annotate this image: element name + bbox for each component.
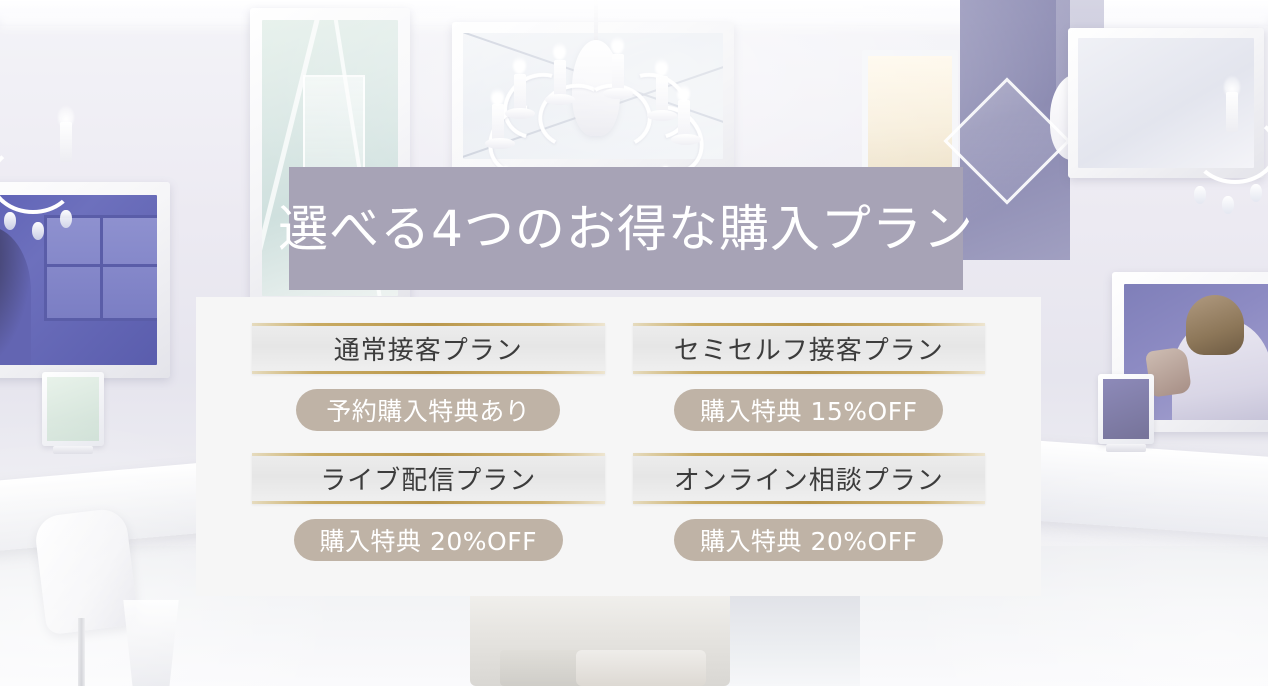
- plan-title-bar: オンライン相談プラン: [633, 453, 986, 504]
- salon-chair-icon: [33, 507, 139, 635]
- page-title: 選べる4つのお得な購入プラン: [278, 204, 974, 254]
- desk-mirror-stand: [53, 446, 93, 454]
- mirror-reflection-hair: [1186, 295, 1244, 355]
- plan-benefit-badge: 購入特典 20%OFF: [294, 519, 563, 561]
- plan-benefit-badge: 購入特典 20%OFF: [674, 519, 943, 561]
- counter-icon: [1018, 440, 1268, 541]
- wall-sconce-icon: [1180, 14, 1268, 194]
- desk-mirror-stand: [1106, 444, 1146, 452]
- plan-title: セミセルフ接客プラン: [674, 330, 944, 367]
- mirror-reflection-window: [44, 215, 157, 320]
- plan-card-1[interactable]: 通常接客プラン 予約購入特典あり: [252, 323, 605, 443]
- plan-card-3[interactable]: ライブ配信プラン 購入特典 20%OFF: [252, 453, 605, 573]
- wall-sconce-icon: [0, 26, 126, 206]
- plan-title: オンライン相談プラン: [674, 460, 944, 497]
- plan-title: ライブ配信プラン: [320, 460, 536, 497]
- desk-mirror-icon: [42, 372, 104, 446]
- mirror-reflection-person: [0, 226, 31, 365]
- plan-title: 通常接客プラン: [334, 330, 523, 367]
- plan-card-4[interactable]: オンライン相談プラン 購入特典 20%OFF: [633, 453, 986, 573]
- headline-banner: 選べる4つのお得な購入プラン: [289, 167, 963, 290]
- plan-title-bar: 通常接客プラン: [252, 323, 605, 374]
- plan-title-bar: ライブ配信プラン: [252, 453, 605, 504]
- salon-chair-pole: [78, 618, 85, 686]
- plan-card-2[interactable]: セミセルフ接客プラン 購入特典 15%OFF: [633, 323, 986, 443]
- desk-mirror-icon: [1098, 374, 1154, 444]
- plan-title-bar: セミセルフ接客プラン: [633, 323, 986, 374]
- wall-niche: [862, 50, 958, 180]
- plans-panel: 通常接客プラン 予約購入特典あり セミセルフ接客プラン 購入特典 15%OFF …: [196, 297, 1041, 596]
- stool-icon: [576, 650, 706, 686]
- plan-benefit-badge: 購入特典 15%OFF: [674, 389, 943, 431]
- promo-banner: 選べる4つのお得な購入プラン 通常接客プラン 予約購入特典あり セミセルフ接客プ…: [0, 0, 1268, 686]
- plan-benefit-badge: 予約購入特典あり: [296, 389, 560, 431]
